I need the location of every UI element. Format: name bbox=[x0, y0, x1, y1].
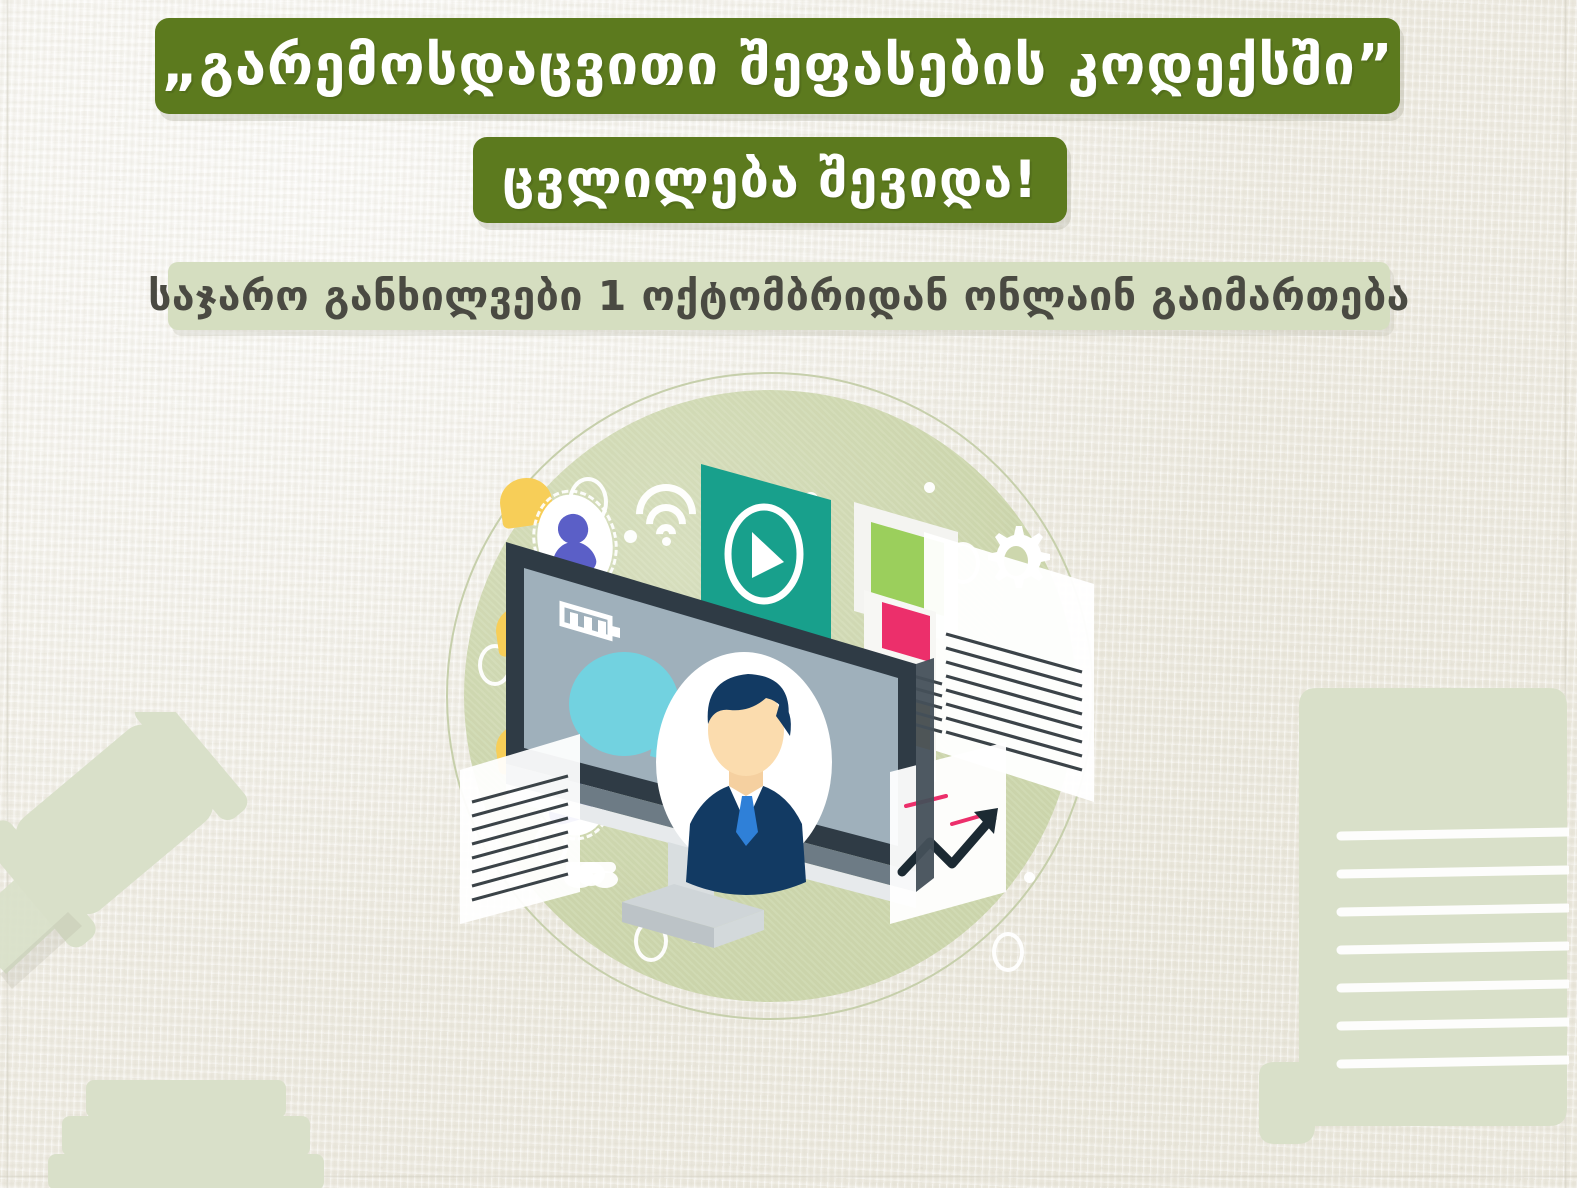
gavel-icon bbox=[0, 712, 302, 1012]
left-document-card bbox=[460, 734, 580, 924]
isometric-scene bbox=[446, 372, 1094, 1020]
subhead-text: ცვლილება შევიდა! bbox=[502, 154, 1038, 206]
headline-text: „გარემოსდაცვითი შეფასების კოდექსში” bbox=[161, 38, 1393, 94]
monitor-side-strip bbox=[916, 658, 934, 892]
online-public-hearing-illustration bbox=[446, 372, 1094, 1020]
detail-text: საჯარო განხილვები 1 ოქტომბრიდან ონლაინ გ… bbox=[148, 276, 1410, 317]
chart-card bbox=[890, 742, 1006, 924]
sound-block-icon bbox=[48, 1070, 338, 1188]
detail-banner: საჯარო განხილვები 1 ოქტომბრიდან ონლაინ გ… bbox=[168, 262, 1390, 330]
subhead-banner: ცვლილება შევიდა! bbox=[473, 137, 1067, 223]
poster-root: „გარემოსდაცვითი შეფასების კოდექსში” ცვლი… bbox=[0, 0, 1577, 1188]
headline-banner: „გარემოსდაცვითი შეფასების კოდექსში” bbox=[155, 18, 1400, 114]
document-scroll-icon bbox=[1249, 678, 1569, 1188]
